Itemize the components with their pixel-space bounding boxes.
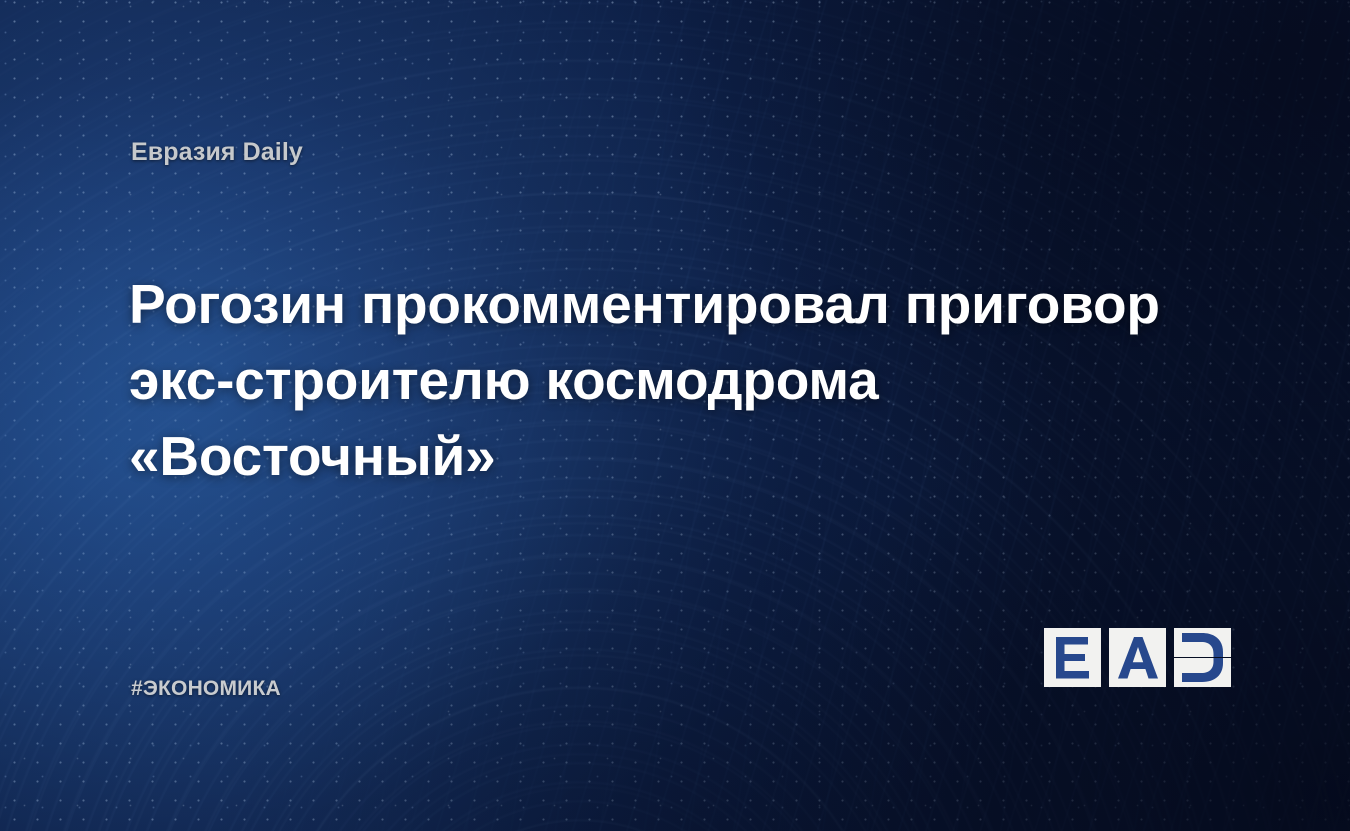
page-title: Рогозин прокомментировал приговор экс-ст… [129, 266, 1209, 494]
news-card: Евразия Daily Рогозин прокомментировал п… [0, 0, 1350, 831]
logo-tile-d-lower [1174, 658, 1231, 687]
logo-tile-d-upper [1174, 628, 1231, 657]
logo-tile-d [1174, 628, 1231, 687]
eadaily-logo[interactable] [1044, 628, 1231, 687]
headline-line-1: Рогозин прокомментировал приговор [129, 266, 1209, 342]
card-content: Евразия Daily Рогозин прокомментировал п… [0, 0, 1350, 831]
brand-name: Евразия Daily [131, 138, 303, 167]
rubric-tag-economy[interactable]: #ЭКОНОМИКА [131, 677, 281, 701]
headline-line-3: «Восточный» [129, 418, 1209, 494]
headline-line-2: экс-строителю космодрома [129, 342, 1209, 418]
logo-tile-a [1109, 628, 1166, 687]
logo-tile-e [1044, 628, 1101, 687]
